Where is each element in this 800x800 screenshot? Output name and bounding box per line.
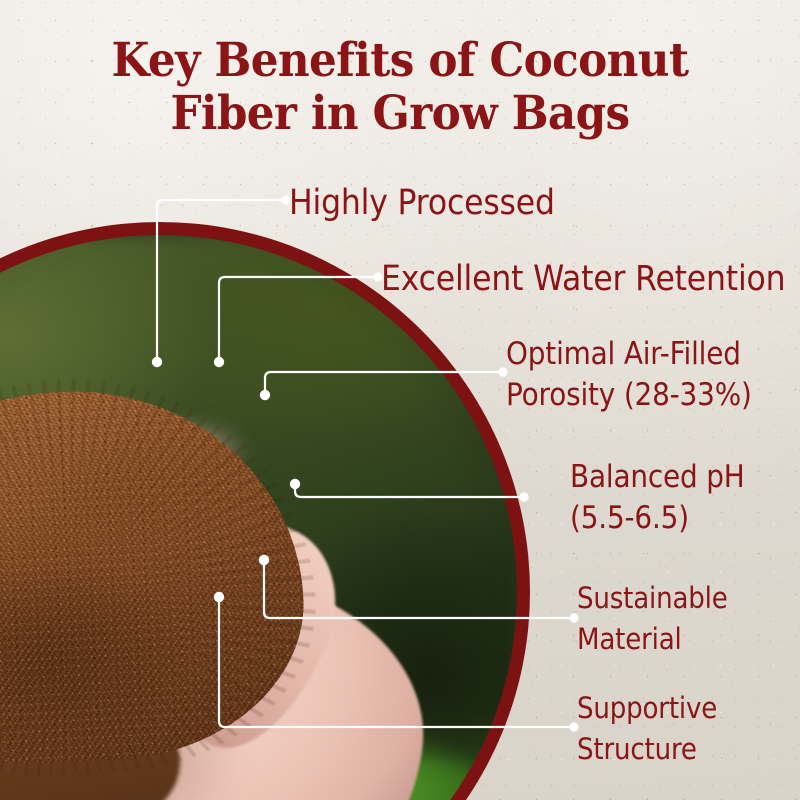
benefit-label-water-retention-line-1: Excellent Water Retention [381, 259, 785, 300]
benefit-label-highly-processed-line-1: Highly Processed [289, 183, 555, 224]
benefit-label-supportive-structure-line-2: Structure [577, 729, 717, 770]
benefit-label-air-filled-porosity-line-1: Optimal Air-Filled [506, 334, 752, 375]
coir-photo-artwork [0, 235, 517, 800]
benefit-label-sustainable-material-line-1: Sustainable [577, 578, 728, 619]
page-title-line-2: Fiber in Grow Bags [28, 87, 772, 140]
benefit-label-supportive-structure: Supportive Structure [577, 688, 717, 770]
coir-photo [0, 235, 517, 800]
benefit-label-water-retention: Excellent Water Retention [381, 259, 785, 300]
page-title-line-1: Key Benefits of Coconut [28, 34, 772, 87]
page-title: Key Benefits of Coconut Fiber in Grow Ba… [0, 34, 800, 140]
infographic-canvas: Key Benefits of Coconut Fiber in Grow Ba… [0, 0, 800, 800]
connector-end-dot-balanced-ph [519, 492, 528, 501]
benefit-label-sustainable-material: Sustainable Material [577, 578, 728, 660]
benefit-label-air-filled-porosity: Optimal Air-Filled Porosity (28-33%) [506, 334, 752, 416]
benefit-label-balanced-ph-line-1: Balanced pH [570, 457, 745, 498]
photo-ring-border [0, 222, 530, 800]
benefit-label-sustainable-material-line-2: Material [577, 619, 728, 660]
benefit-label-highly-processed: Highly Processed [289, 183, 555, 224]
benefit-label-balanced-ph-line-2: (5.5-6.5) [570, 498, 745, 539]
benefit-label-supportive-structure-line-1: Supportive [577, 688, 717, 729]
benefit-label-balanced-ph: Balanced pH (5.5-6.5) [570, 457, 745, 539]
benefit-label-air-filled-porosity-line-2: Porosity (28-33%) [506, 375, 752, 416]
